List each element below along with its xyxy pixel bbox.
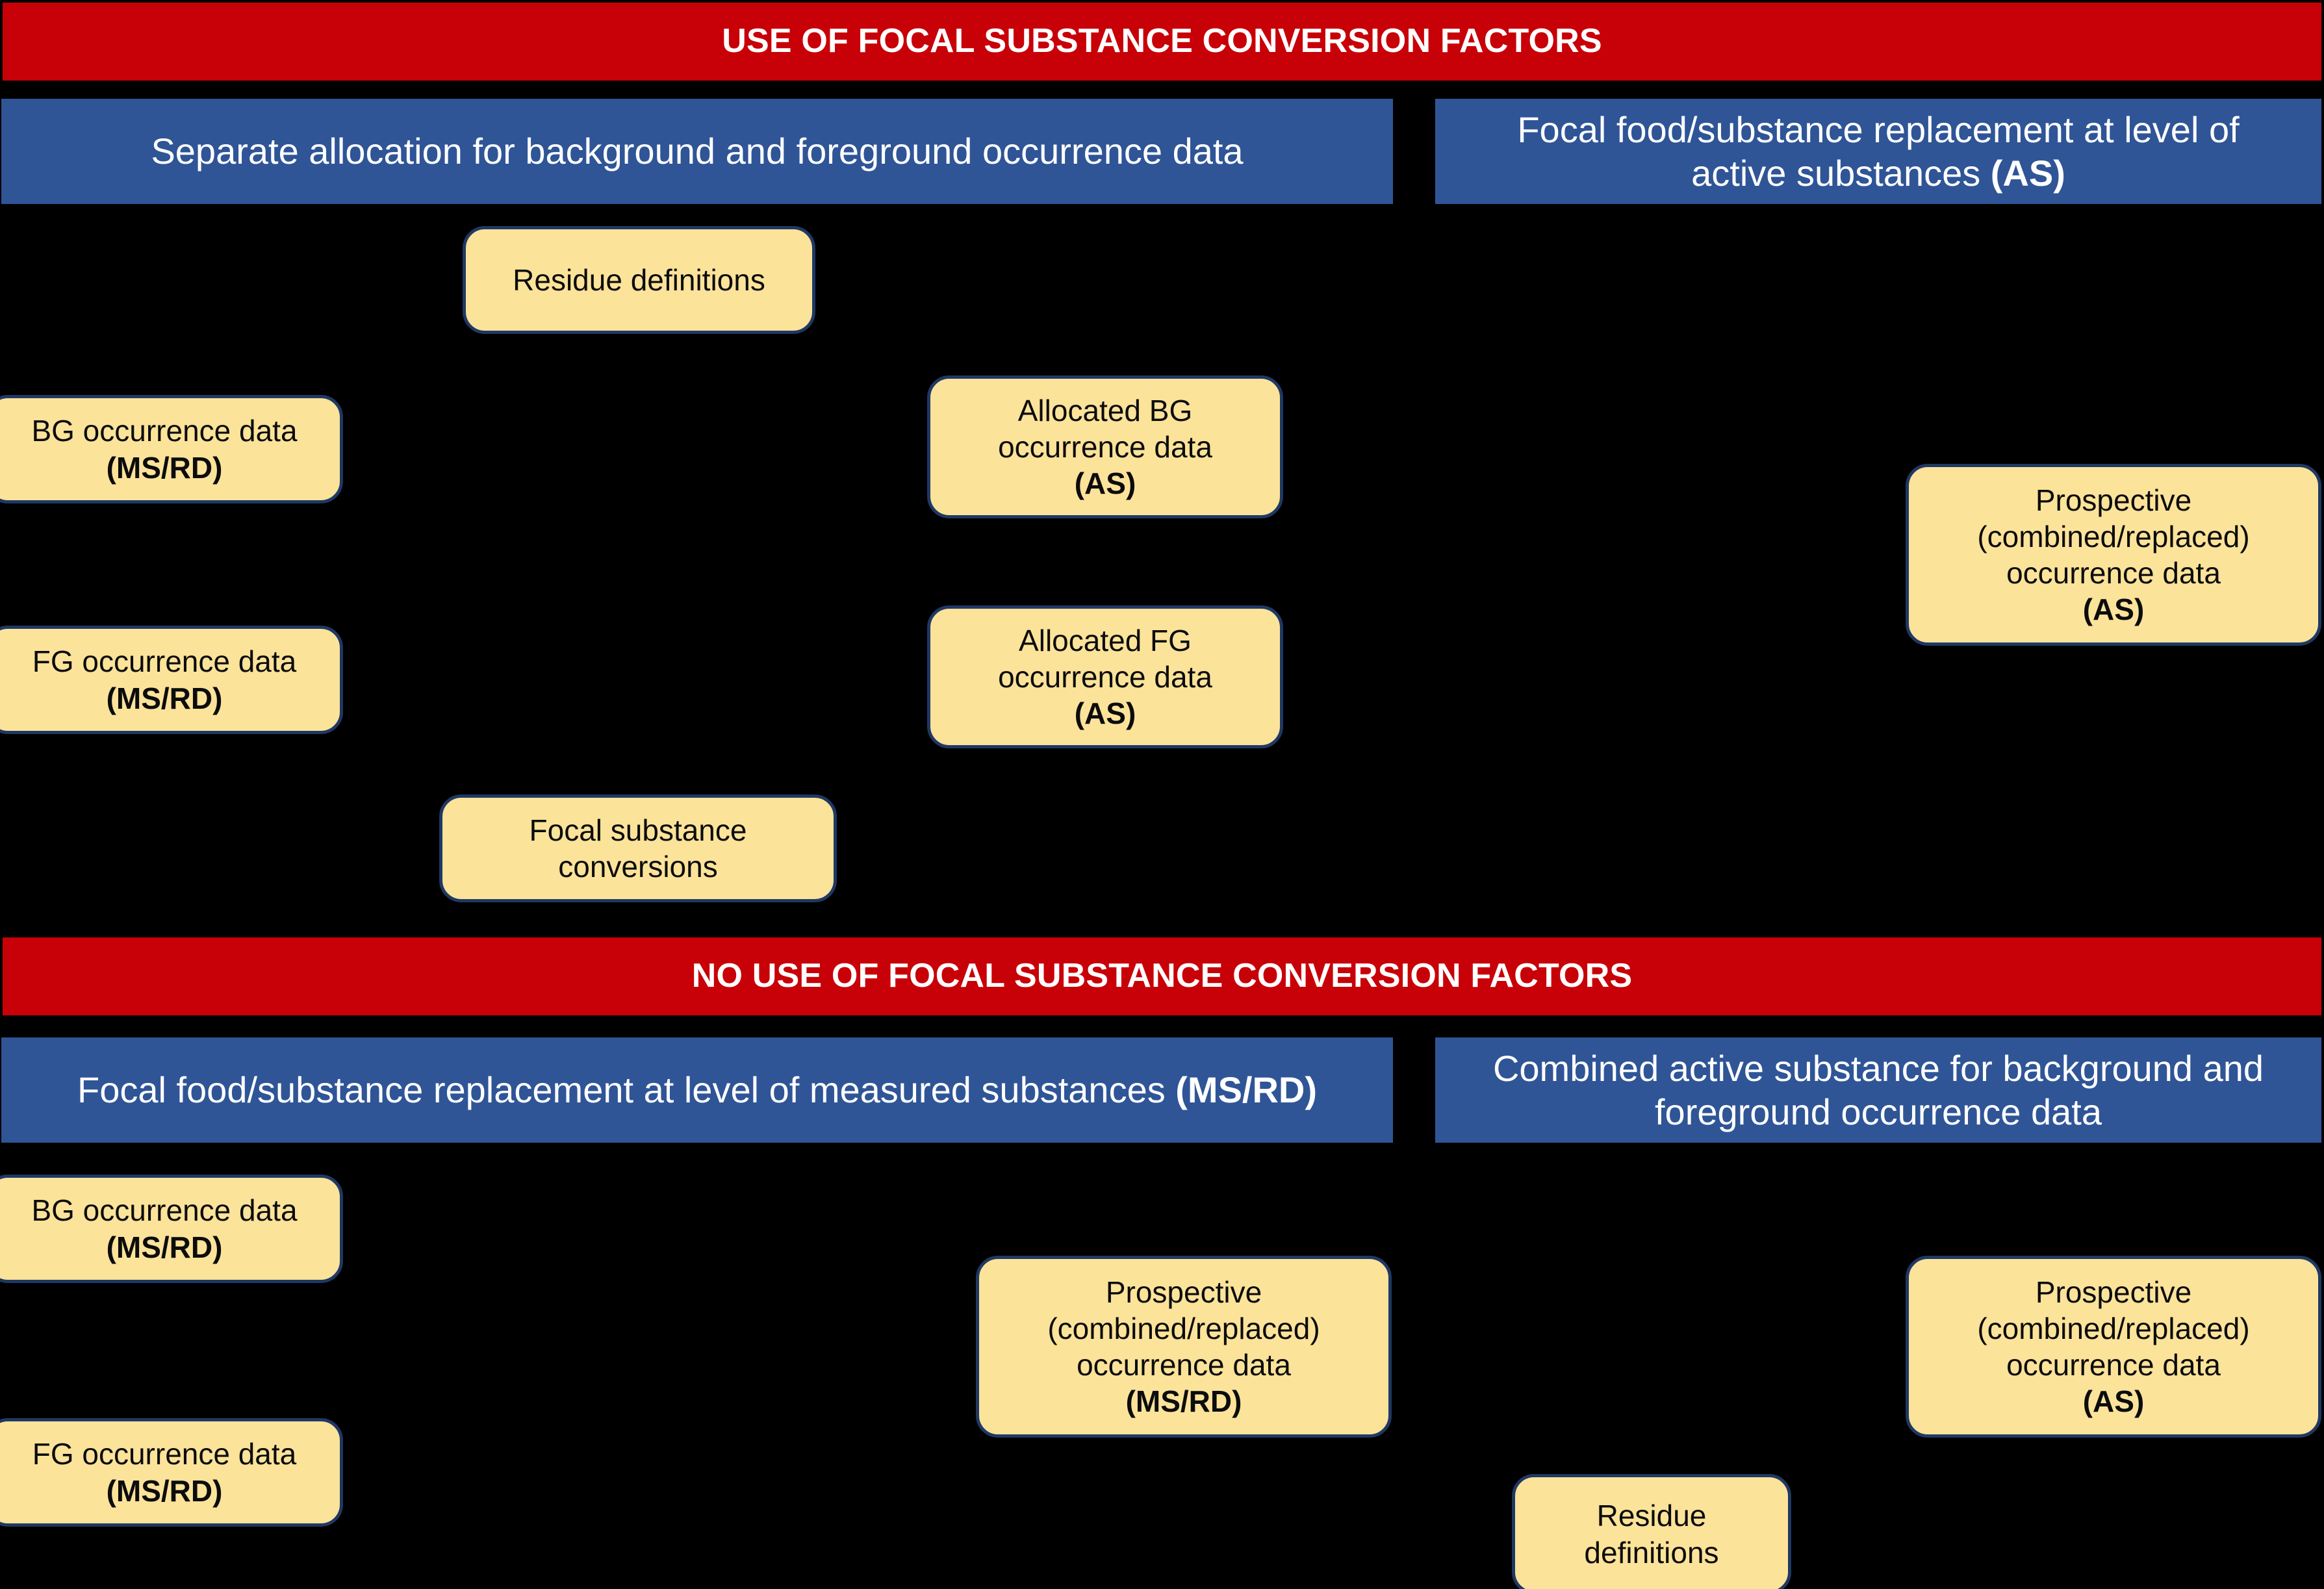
node-bold: (AS) (2083, 1384, 2145, 1418)
node-residue-definitions-top[interactable]: Residue definitions (463, 226, 815, 334)
column-header-line1: Focal food/substance replacement at leve… (77, 1069, 1175, 1110)
node-bg-occurrence-data-bottom[interactable]: BG occurrence data (MS/RD) (0, 1175, 343, 1283)
column-header-line2: foreground occurrence data (1655, 1091, 2102, 1132)
node-bold: (AS) (1075, 466, 1136, 500)
node-line2: occurrence data (998, 660, 1212, 694)
column-header-focal-replacement-msrd: Focal food/substance replacement at leve… (1, 1037, 1393, 1143)
column-header-bold: (AS) (1991, 153, 2065, 194)
node-residue-definitions-bottom[interactable]: Residue definitions (1512, 1474, 1791, 1589)
node-line3: occurrence data (1077, 1348, 1291, 1382)
node-text: Prospective (combined/replaced) occurren… (1915, 1274, 2312, 1419)
node-text: Residue definitions (1522, 1497, 1781, 1570)
banner-label: USE OF FOCAL SUBSTANCE CONVERSION FACTOR… (722, 22, 1602, 61)
node-text: FG occurrence data (MS/RD) (0, 1436, 333, 1508)
banner-label: NO USE OF FOCAL SUBSTANCE CONVERSION FAC… (692, 957, 1633, 996)
node-line1: Residue definitions (513, 263, 765, 297)
node-line1: Prospective (2036, 483, 2191, 517)
node-fg-occurrence-data-top[interactable]: FG occurrence data (MS/RD) (0, 626, 343, 734)
node-allocated-bg-occurrence-data[interactable]: Allocated BG occurrence data (AS) (927, 375, 1283, 518)
node-line1: Prospective (1106, 1275, 1262, 1309)
node-line2: (combined/replaced) (1977, 1312, 2249, 1345)
node-text: BG occurrence data (MS/RD) (0, 1192, 333, 1265)
node-line2: conversions (558, 850, 717, 883)
node-bold: (MS/RD) (107, 1474, 223, 1508)
node-bold: (MS/RD) (1126, 1384, 1242, 1418)
node-text: Prospective (combined/replaced) occurren… (1915, 482, 2312, 628)
node-text: Prospective (combined/replaced) occurren… (986, 1274, 1382, 1419)
node-line1: BG occurrence data (31, 414, 297, 448)
node-line1: FG occurrence data (32, 1437, 297, 1471)
node-text: Allocated FG occurrence data (AS) (937, 622, 1273, 731)
column-header-separate-allocation: Separate allocation for background and f… (1, 99, 1393, 204)
column-header-line2: active substances (1691, 153, 1991, 194)
node-prospective-occurrence-data-msrd[interactable]: Prospective (combined/replaced) occurren… (976, 1256, 1392, 1438)
column-header-label: Focal food/substance replacement at leve… (1517, 108, 2239, 195)
column-header-label: Separate allocation for background and f… (151, 129, 1243, 173)
node-text: Focal substance conversions (449, 812, 827, 885)
column-header-line1: Combined active substance for background… (1493, 1048, 2264, 1089)
node-bold: (MS/RD) (107, 681, 223, 715)
node-allocated-fg-occurrence-data[interactable]: Allocated FG occurrence data (AS) (927, 605, 1283, 748)
column-header-focal-replacement-as: Focal food/substance replacement at leve… (1435, 99, 2321, 204)
column-header-combined-active-substance: Combined active substance for background… (1435, 1037, 2321, 1143)
node-prospective-occurrence-data-as-top[interactable]: Prospective (combined/replaced) occurren… (1906, 464, 2321, 646)
node-prospective-occurrence-data-as-bottom[interactable]: Prospective (combined/replaced) occurren… (1906, 1256, 2321, 1438)
column-header-line1: Focal food/substance replacement at leve… (1517, 109, 2239, 150)
node-line1: BG occurrence data (31, 1193, 297, 1227)
node-fg-occurrence-data-bottom[interactable]: FG occurrence data (MS/RD) (0, 1418, 343, 1527)
node-focal-substance-conversions[interactable]: Focal substance conversions (439, 794, 837, 902)
node-text: Allocated BG occurrence data (AS) (937, 392, 1273, 502)
node-line1: Allocated FG (1019, 624, 1192, 657)
node-line1: Focal substance (530, 813, 747, 847)
node-text: FG occurrence data (MS/RD) (0, 643, 333, 716)
column-header-bold: (MS/RD) (1175, 1069, 1317, 1110)
node-bold: (MS/RD) (107, 451, 223, 485)
node-bold: (AS) (1075, 696, 1136, 730)
column-header-label: Combined active substance for background… (1493, 1047, 2264, 1134)
node-line1: Residue (1597, 1499, 1707, 1532)
section-banner-no-use-of-conversion-factors: NO USE OF FOCAL SUBSTANCE CONVERSION FAC… (3, 937, 2321, 1015)
node-bold: (MS/RD) (107, 1230, 223, 1264)
node-line3: occurrence data (2006, 1348, 2221, 1382)
node-text: BG occurrence data (MS/RD) (0, 413, 333, 485)
node-line2: occurrence data (998, 430, 1212, 464)
node-bg-occurrence-data-top[interactable]: BG occurrence data (MS/RD) (0, 395, 343, 503)
node-line1: Prospective (2036, 1275, 2191, 1309)
column-header-label: Focal food/substance replacement at leve… (77, 1068, 1317, 1112)
node-line1: FG occurrence data (32, 644, 297, 678)
section-banner-use-of-conversion-factors: USE OF FOCAL SUBSTANCE CONVERSION FACTOR… (3, 3, 2321, 81)
diagram-canvas: USE OF FOCAL SUBSTANCE CONVERSION FACTOR… (0, 0, 2324, 1589)
node-text: Residue definitions (472, 262, 806, 298)
node-line2: (combined/replaced) (1977, 520, 2249, 553)
node-line2: definitions (1584, 1536, 1718, 1570)
node-bold: (AS) (2083, 592, 2145, 626)
node-line2: (combined/replaced) (1047, 1312, 1320, 1345)
node-line1: Allocated BG (1018, 394, 1192, 427)
node-line3: occurrence data (2006, 556, 2221, 590)
